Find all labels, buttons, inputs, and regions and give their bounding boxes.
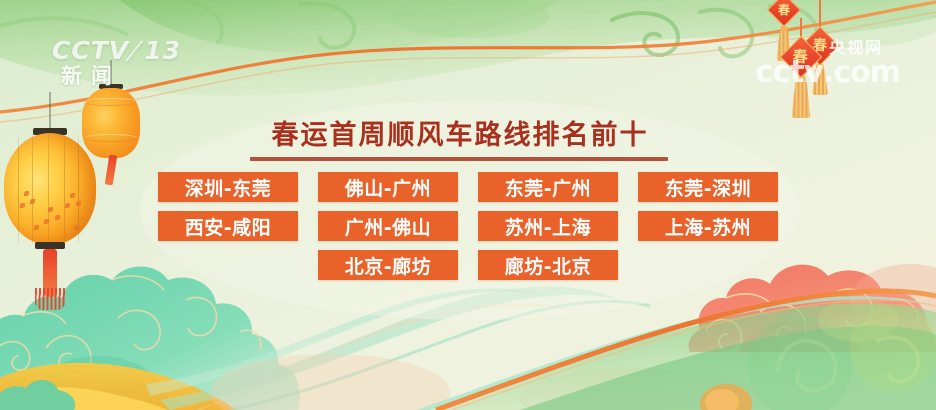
title-underline — [250, 157, 668, 161]
page-title: 春运首周顺风车路线排名前十 — [250, 122, 670, 150]
cctv-13-logo: CCTV/13 新闻 — [52, 38, 181, 87]
route-chip[interactable]: 东莞-深圳 — [638, 172, 778, 202]
watermark-en-label: cctv.com — [755, 57, 900, 88]
lantern-cord — [50, 92, 51, 128]
route-row: 深圳-东莞 佛山-广州 东莞-广州 东莞-深圳 — [0, 172, 936, 202]
route-chip[interactable]: 佛山-广州 — [318, 172, 458, 202]
cctv-wordmark: CCTV — [52, 36, 129, 65]
route-chip[interactable]: 东莞-广州 — [478, 172, 618, 202]
route-row: 北京-廊坊 廊坊-北京 — [0, 250, 936, 280]
route-ranking-list: 深圳-东莞 佛山-广州 东莞-广州 东莞-深圳 西安-咸阳 广州-佛山 苏州-上… — [0, 172, 936, 289]
route-chip[interactable]: 廊坊-北京 — [478, 250, 618, 280]
broadcast-graphic: 春 春 春 CCTV/13 新闻 央视网 cctv.com 春运首周顺风车路线排… — [0, 0, 936, 410]
cctv-com-watermark: 央视网 cctv.com — [755, 40, 900, 88]
route-chip[interactable]: 西安-咸阳 — [158, 211, 298, 241]
watermark-en-prefix: cctv — [755, 54, 823, 90]
route-chip[interactable]: 深圳-东莞 — [158, 172, 298, 202]
cctv-logo-row: CCTV/13 — [52, 38, 181, 63]
route-chip[interactable]: 苏州-上海 — [478, 211, 618, 241]
lantern-tassel-frill — [35, 288, 65, 310]
route-chip[interactable]: 北京-廊坊 — [318, 250, 458, 280]
watermark-en-dot: . — [823, 55, 833, 90]
route-chip[interactable]: 广州-佛山 — [318, 211, 458, 241]
watermark-en-suffix: com — [833, 55, 900, 90]
route-chip[interactable]: 上海-苏州 — [638, 211, 778, 241]
watermark-cn-label: 央视网 — [829, 40, 900, 56]
cctv-channel-sublabel: 新闻 — [61, 66, 181, 87]
cctv-channel-number: 13 — [141, 36, 181, 65]
headline-block: 春运首周顺风车路线排名前十 — [250, 122, 670, 161]
route-row: 西安-咸阳 广州-佛山 苏州-上海 上海-苏州 — [0, 211, 936, 241]
